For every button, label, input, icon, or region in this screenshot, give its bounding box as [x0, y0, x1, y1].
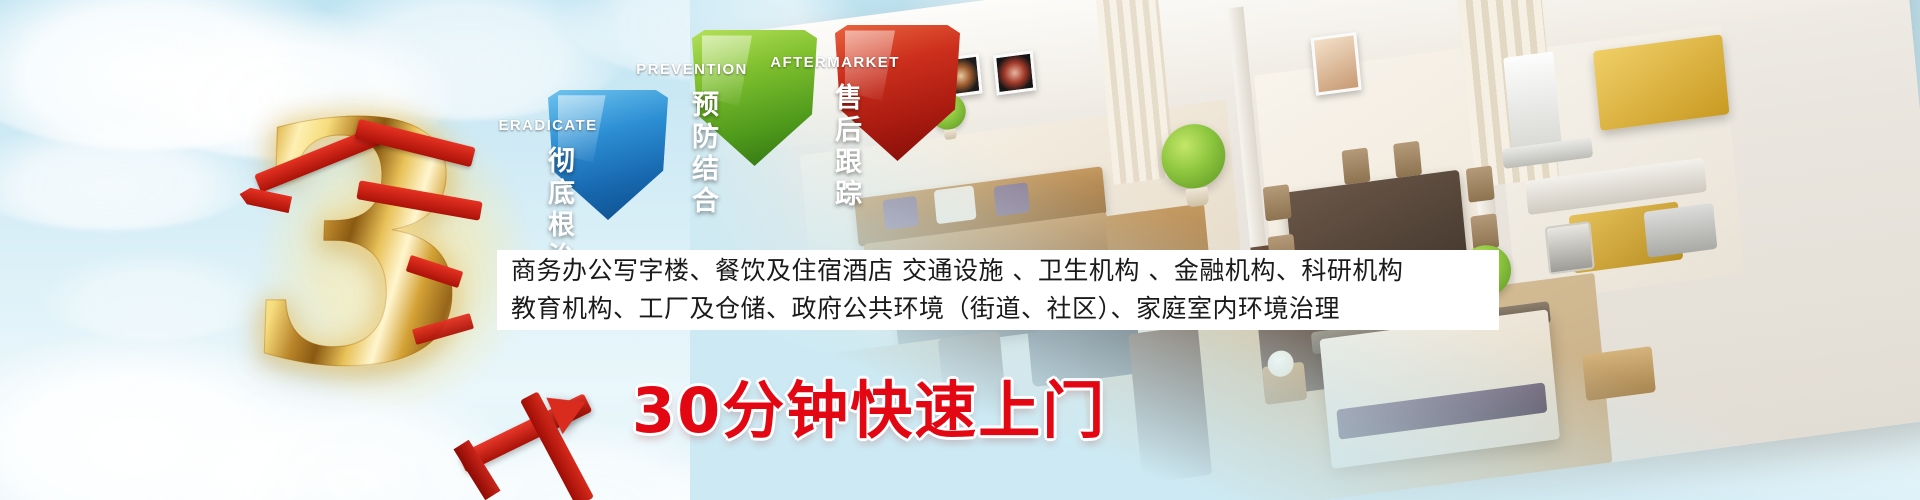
potted-plant — [1159, 120, 1230, 210]
wall-picture — [993, 50, 1036, 95]
oven — [1545, 221, 1595, 275]
kitchen-sink — [1644, 203, 1718, 258]
dining-chair — [1342, 147, 1371, 184]
refrigerator — [1503, 51, 1562, 152]
dining-chair — [1393, 141, 1422, 178]
cloud — [40, 250, 270, 340]
service-scope-panel: 商务办公写字楼、餐饮及住宿酒店 交通设施 、卫生机构 、金融机构、科研机构 教育… — [497, 250, 1499, 330]
cushion — [934, 185, 977, 224]
headline-text: 30分钟快速上门 — [632, 360, 1106, 450]
dining-chair — [1263, 184, 1292, 221]
cushion — [994, 182, 1031, 216]
kitchen-cabinet — [1593, 34, 1730, 131]
bench — [1582, 346, 1656, 401]
promo-banner: 3 ERADICATE 彻底 根治 PREVENTION — [0, 0, 1920, 500]
red-arrow-ribbon — [445, 343, 595, 493]
marble-floor-inlay — [1128, 325, 1212, 484]
service-scope-line-1: 商务办公写字楼、餐饮及住宿酒店 交通设施 、卫生机构 、金融机构、科研机构 — [511, 252, 1485, 290]
wall-picture — [1311, 32, 1362, 96]
service-scope-line-2: 教育机构、工厂及仓储、政府公共环境（街道、社区）、家庭室内环境治理 — [511, 290, 1485, 328]
cushion — [882, 196, 919, 230]
dining-chair — [1466, 165, 1495, 202]
